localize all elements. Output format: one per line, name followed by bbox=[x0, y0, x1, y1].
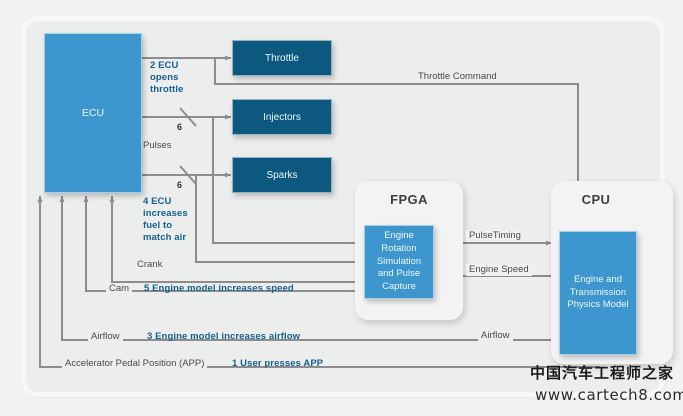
step-4-line4: match air bbox=[143, 232, 186, 244]
label-cam: Cam bbox=[106, 283, 132, 295]
panel-cpu-title: CPU bbox=[551, 192, 641, 207]
bus-width-sparks: 6 bbox=[177, 180, 182, 190]
block-ecu-label: ECU bbox=[82, 107, 104, 119]
step-2-line1: 2 ECU bbox=[150, 60, 178, 72]
block-throttle-label: Throttle bbox=[265, 53, 299, 64]
block-throttle[interactable]: Throttle bbox=[232, 40, 332, 76]
block-engine-rotation-simulation[interactable]: Engine Rotation Simulation and Pulse Cap… bbox=[364, 225, 434, 299]
block-sparks[interactable]: Sparks bbox=[232, 157, 332, 193]
label-pulses: Pulses bbox=[143, 140, 172, 152]
block-engine-transmission-physics-model-label: Engine and Transmission Physics Model bbox=[563, 274, 633, 312]
label-airflow-left: Airflow bbox=[88, 331, 123, 343]
step-5-text: 5 Engine model increases speed bbox=[144, 283, 294, 295]
block-injectors[interactable]: Injectors bbox=[232, 99, 332, 135]
block-injectors-label: Injectors bbox=[263, 112, 301, 123]
step-2-line3: throttle bbox=[150, 84, 184, 96]
bus-width-injectors: 6 bbox=[177, 122, 182, 132]
label-airflow-right: Airflow bbox=[478, 330, 513, 342]
block-sparks-label: Sparks bbox=[266, 170, 297, 181]
watermark-chinese: 中国汽车工程师之家 bbox=[530, 362, 674, 383]
step-1-text: 1 User presses APP bbox=[232, 358, 323, 370]
panel-fpga-title: FPGA bbox=[355, 192, 463, 207]
watermark-url: www.cartech8.com bbox=[535, 386, 683, 404]
label-crank: Crank bbox=[134, 259, 165, 271]
label-throttle-command: Throttle Command bbox=[415, 71, 500, 83]
diagram-canvas: ECU Throttle Injectors Sparks FPGA Engin… bbox=[0, 0, 683, 416]
block-ecu[interactable]: ECU bbox=[44, 33, 142, 193]
label-engine-speed: Engine Speed bbox=[466, 264, 532, 276]
step-2-line2: opens bbox=[150, 72, 178, 84]
block-engine-rotation-simulation-label: Engine Rotation Simulation and Pulse Cap… bbox=[368, 230, 430, 294]
label-pulse-timing: PulseTiming bbox=[466, 230, 524, 242]
step-3-text: 3 Engine model increases airflow bbox=[147, 331, 300, 343]
step-4-line3: fuel to bbox=[143, 220, 172, 232]
label-app: Accelerator Pedal Position (APP) bbox=[62, 358, 207, 370]
step-4-line1: 4 ECU bbox=[143, 196, 171, 208]
step-4-line2: increases bbox=[143, 208, 188, 220]
block-engine-transmission-physics-model[interactable]: Engine and Transmission Physics Model bbox=[559, 231, 637, 355]
